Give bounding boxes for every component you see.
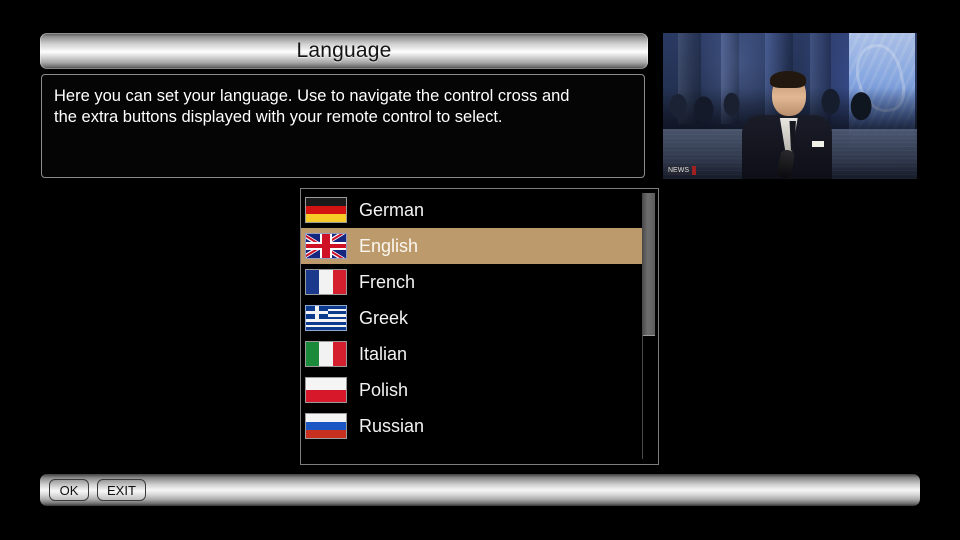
list-item-label: Italian	[359, 344, 407, 365]
language-list[interactable]: German English French Greek Italian Poli	[301, 192, 643, 460]
scrollbar-thumb[interactable]	[643, 193, 655, 336]
list-item-label: Russian	[359, 416, 424, 437]
channel-logo-mark	[692, 166, 696, 175]
list-item[interactable]: Greek	[301, 300, 643, 336]
list-item-label: Polish	[359, 380, 408, 401]
list-item[interactable]: Italian	[301, 336, 643, 372]
list-item-label: German	[359, 200, 424, 221]
softkey-bar: OK EXIT	[40, 474, 920, 506]
list-item-label: French	[359, 272, 415, 293]
tv-settings-screen: Language Here you can set your language.…	[0, 0, 960, 540]
list-item[interactable]: Polish	[301, 372, 643, 408]
poland-flag-icon	[305, 377, 347, 403]
list-item-label: Greek	[359, 308, 408, 329]
title-bar: Language	[40, 33, 648, 69]
language-list-panel: German English French Greek Italian Poli	[300, 188, 659, 465]
exit-button[interactable]: EXIT	[97, 479, 146, 501]
channel-logo-text: NEWS	[667, 166, 690, 175]
list-item-label: English	[359, 236, 418, 257]
preview-scene: NEWS	[663, 33, 917, 179]
live-tv-preview[interactable]: NEWS	[663, 33, 917, 179]
description-text: Here you can set your language. Use to n…	[54, 86, 632, 128]
greece-flag-icon	[305, 305, 347, 331]
list-item[interactable]: French	[301, 264, 643, 300]
pocket-square	[812, 141, 824, 147]
germany-flag-icon	[305, 197, 347, 223]
page-title: Language	[296, 39, 391, 63]
list-item[interactable]: German	[301, 192, 643, 228]
channel-logo: NEWS	[667, 165, 696, 176]
list-item[interactable]: Russian	[301, 408, 643, 444]
france-flag-icon	[305, 269, 347, 295]
list-scrollbar[interactable]	[642, 193, 655, 459]
ok-button[interactable]: OK	[49, 479, 89, 501]
russia-flag-icon	[305, 413, 347, 439]
united-kingdom-flag-icon	[305, 233, 347, 259]
italy-flag-icon	[305, 341, 347, 367]
reporter-hair	[770, 71, 806, 88]
list-item[interactable]: English	[301, 228, 643, 264]
description-panel: Here you can set your language. Use to n…	[41, 74, 645, 178]
